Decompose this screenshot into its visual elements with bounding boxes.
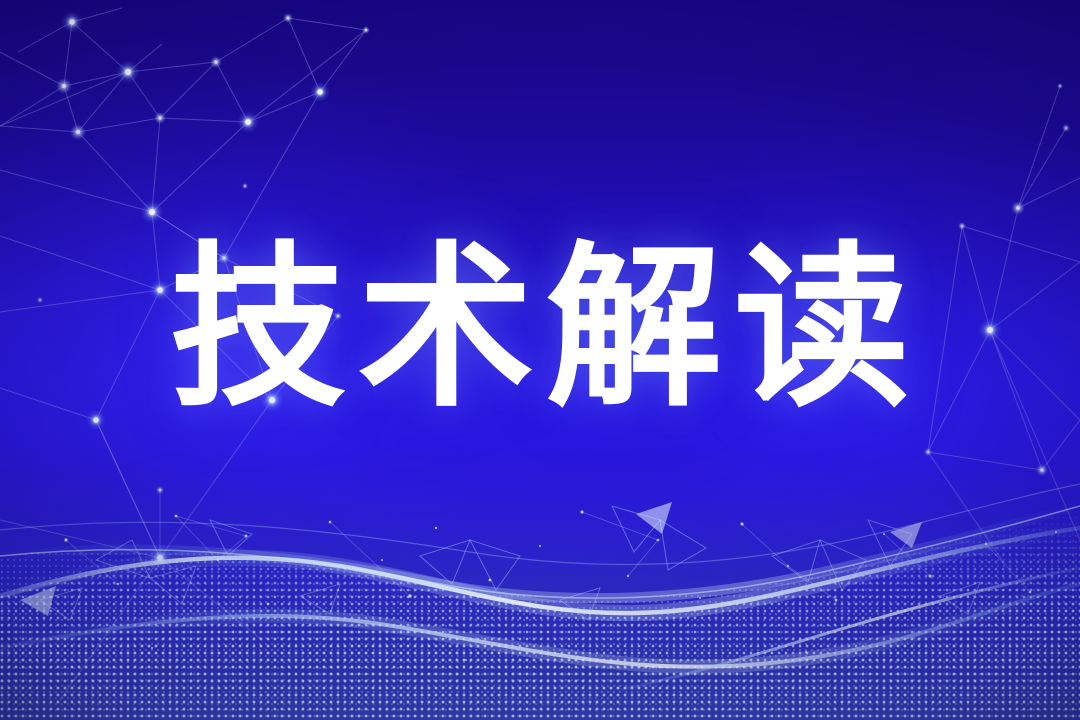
title-block: 技术解读 [0,236,1080,423]
page-title: 技术解读 [158,236,922,423]
banner-canvas: 技术解读 [0,0,1080,720]
